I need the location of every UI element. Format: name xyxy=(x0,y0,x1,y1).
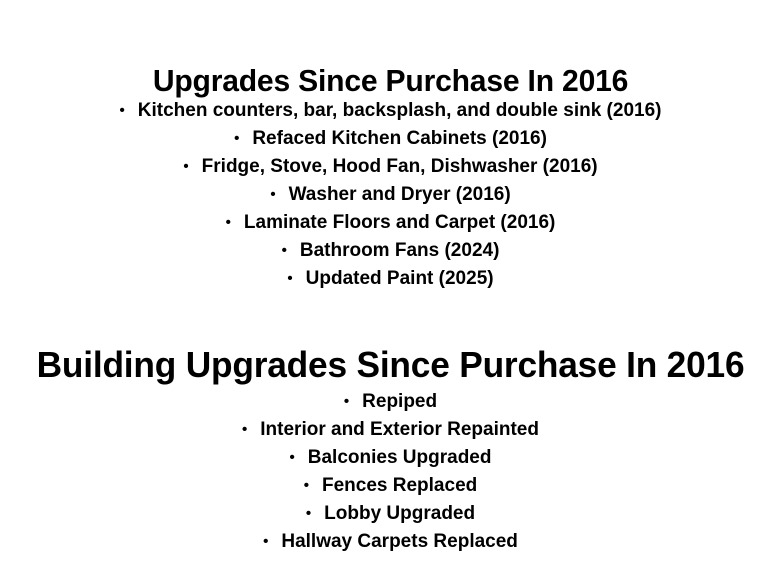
list-item-label: Bathroom Fans (2024) xyxy=(300,237,500,265)
list-item: •Hallway Carpets Replaced xyxy=(0,528,781,556)
list-item-label: Fridge, Stove, Hood Fan, Dishwasher (201… xyxy=(202,153,598,181)
list-item-label: Lobby Upgraded xyxy=(324,500,475,528)
list-item-label: Washer and Dryer (2016) xyxy=(289,181,511,209)
bullet-point-icon: • xyxy=(270,181,275,209)
list-item-label: Interior and Exterior Repainted xyxy=(260,416,539,444)
list-item-label: Repiped xyxy=(362,388,437,416)
bullet-point-icon: • xyxy=(263,528,268,556)
bullet-point-icon: • xyxy=(242,416,247,444)
bullet-point-icon: • xyxy=(282,237,287,265)
bullet-point-icon: • xyxy=(287,265,292,293)
list-item-label: Refaced Kitchen Cabinets (2016) xyxy=(252,125,547,153)
list-item-label: Fences Replaced xyxy=(322,472,477,500)
bullet-point-icon: • xyxy=(234,125,239,153)
list-item-label: Balconies Upgraded xyxy=(308,444,492,472)
list-item: •Washer and Dryer (2016) xyxy=(0,181,781,209)
list-item: •Fridge, Stove, Hood Fan, Dishwasher (20… xyxy=(0,153,781,181)
list-item: •Bathroom Fans (2024) xyxy=(0,237,781,265)
bullet-point-icon: • xyxy=(344,388,349,416)
list-item: •Balconies Upgraded xyxy=(0,444,781,472)
list-item: •Lobby Upgraded xyxy=(0,500,781,528)
list-item: •Repiped xyxy=(0,388,781,416)
bullet-point-icon: • xyxy=(304,472,309,500)
list-item-label: Updated Paint (2025) xyxy=(306,265,494,293)
upgrades-list: •Kitchen counters, bar, backsplash, and … xyxy=(0,97,781,293)
bullet-point-icon: • xyxy=(120,97,125,125)
list-item: •Interior and Exterior Repainted xyxy=(0,416,781,444)
bullet-point-icon: • xyxy=(183,153,188,181)
page-title-building-upgrades: Building Upgrades Since Purchase In 2016 xyxy=(8,344,773,386)
list-item: •Kitchen counters, bar, backsplash, and … xyxy=(0,97,781,125)
bullet-point-icon: • xyxy=(226,209,231,237)
list-item: •Fences Replaced xyxy=(0,472,781,500)
list-item: •Updated Paint (2025) xyxy=(0,265,781,293)
list-item: •Laminate Floors and Carpet (2016) xyxy=(0,209,781,237)
slide-canvas: Upgrades Since Purchase In 2016 •Kitchen… xyxy=(0,0,781,586)
bullet-point-icon: • xyxy=(306,500,311,528)
list-item-label: Laminate Floors and Carpet (2016) xyxy=(244,209,555,237)
list-item-label: Kitchen counters, bar, backsplash, and d… xyxy=(138,97,662,125)
list-item-label: Hallway Carpets Replaced xyxy=(281,528,518,556)
list-item: •Refaced Kitchen Cabinets (2016) xyxy=(0,125,781,153)
page-title-upgrades: Upgrades Since Purchase In 2016 xyxy=(12,63,770,99)
bullet-point-icon: • xyxy=(290,444,295,472)
building-upgrades-list: •Repiped •Interior and Exterior Repainte… xyxy=(0,388,781,556)
